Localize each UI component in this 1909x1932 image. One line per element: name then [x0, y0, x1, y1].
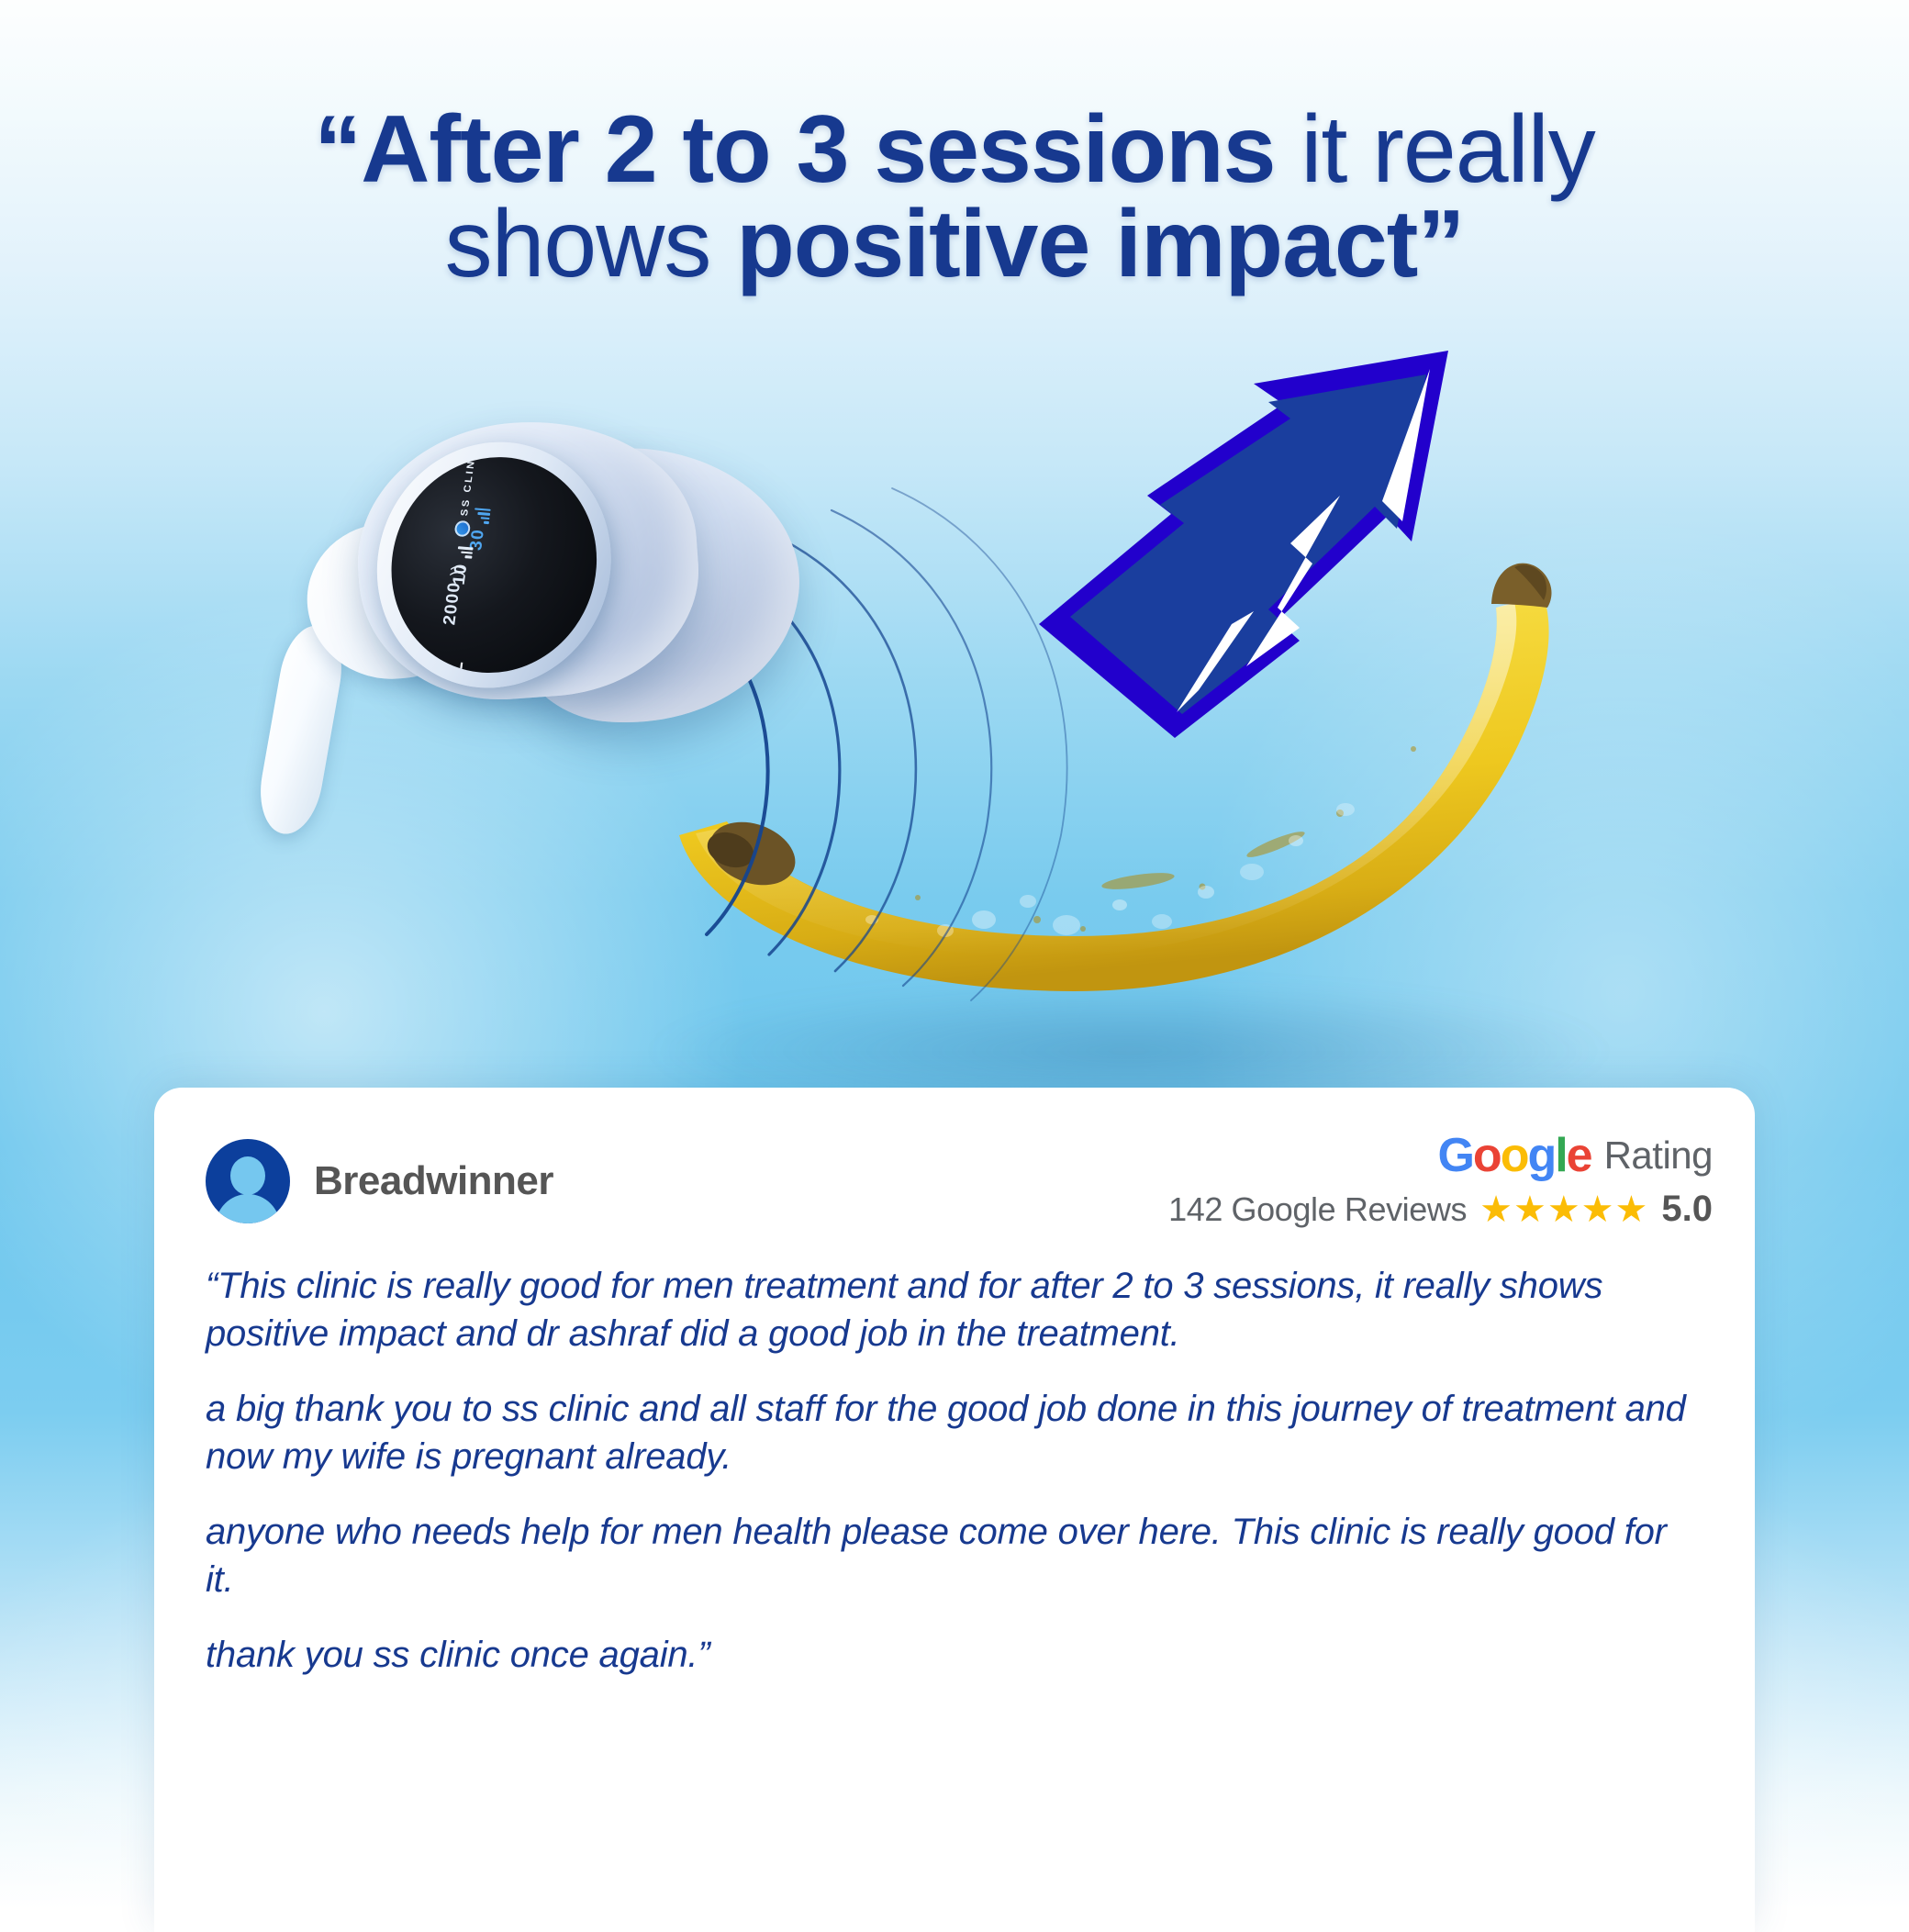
review-card: Breadwinner Google Rating 142 Google Rev… — [154, 1088, 1755, 1932]
google-letter-e: e — [1567, 1129, 1591, 1182]
review-body: “This clinic is really good for men trea… — [206, 1262, 1703, 1706]
device-screen[interactable]: SS CLINIC 30 10 2000 )) + ≡ − — [364, 425, 624, 704]
device-readout-3: 2000 )) — [441, 564, 468, 626]
headline-line-2: shows positive impact” — [0, 197, 1909, 292]
star-rating-icon: ★★★★★ — [1479, 1191, 1648, 1228]
review-paragraph-2: a big thank you to ss clinic and all sta… — [206, 1385, 1703, 1480]
device-readout-3-value: 2000 — [441, 581, 465, 626]
headline-part-bold: After 2 to 3 sessions — [361, 96, 1275, 203]
signal-bars-icon — [454, 546, 474, 558]
review-paragraph-3: anyone who needs help for men health ple… — [206, 1508, 1703, 1603]
review-count: 142 Google Reviews — [1168, 1190, 1467, 1229]
review-paragraph-1: “This clinic is really good for men trea… — [206, 1262, 1703, 1357]
hero-artwork: SS CLINIC 30 10 2000 )) + ≡ − — [0, 349, 1909, 1111]
google-letter-g2: g — [1527, 1129, 1555, 1182]
google-logo-icon: Google — [1437, 1132, 1591, 1179]
avatar-head-shape — [230, 1156, 265, 1195]
headline-line2-light: shows — [445, 191, 737, 297]
minus-button[interactable]: − — [452, 661, 472, 674]
signal-bars-icon — [471, 508, 490, 524]
headline-line-1: “After 2 to 3 sessions it really — [0, 103, 1909, 197]
upward-lightning-arrow-icon — [1037, 349, 1551, 753]
review-paragraph-4: thank you ss clinic once again.” — [206, 1631, 1703, 1679]
google-letter-o2: o — [1501, 1129, 1528, 1182]
menu-button[interactable]: ≡ — [426, 661, 442, 671]
review-card-header: Breadwinner Google Rating 142 Google Rev… — [206, 1132, 1713, 1240]
shockwave-therapy-device: SS CLINIC 30 10 2000 )) + ≡ − — [220, 349, 899, 826]
headline-line2-bold: positive impact — [736, 191, 1417, 297]
rating-score: 5.0 — [1661, 1189, 1713, 1230]
headline: “After 2 to 3 sessions it really shows p… — [0, 103, 1909, 292]
user-avatar-icon — [206, 1139, 290, 1223]
google-letter-l: l — [1555, 1129, 1566, 1182]
avatar-body-shape — [216, 1194, 280, 1223]
device-readout-1: 30 — [467, 508, 492, 552]
google-rating-title-row: Google Rating — [1168, 1132, 1713, 1179]
google-letter-o1: o — [1473, 1129, 1501, 1182]
headline-part-light: it really — [1275, 96, 1594, 203]
rating-label: Rating — [1604, 1134, 1713, 1178]
google-rating-block: Google Rating 142 Google Reviews ★★★★★ 5… — [1168, 1132, 1713, 1230]
google-letter-g1: G — [1437, 1129, 1472, 1182]
reviewer-name: Breadwinner — [314, 1158, 553, 1204]
google-rating-detail-row: 142 Google Reviews ★★★★★ 5.0 — [1168, 1189, 1713, 1230]
wave-emit-icon: )) — [448, 564, 465, 577]
reviewer-identity: Breadwinner — [206, 1139, 553, 1223]
headline-open-quote: “ — [314, 96, 361, 203]
headline-close-quote: ” — [1417, 191, 1464, 297]
